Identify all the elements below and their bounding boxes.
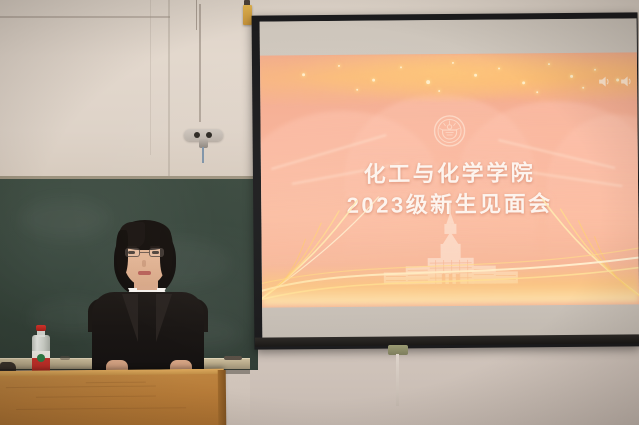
water-bottle[interactable] [30, 325, 52, 377]
mount-wire [202, 147, 204, 163]
podium-right-edge [218, 370, 227, 425]
wall-seam [0, 16, 170, 18]
wall-cable [199, 4, 201, 122]
light-ribbons [261, 194, 639, 307]
nose [142, 260, 146, 267]
volume-icon [598, 75, 611, 87]
speaker-hole-icon [194, 132, 200, 138]
slide-speaker-icons [598, 74, 633, 86]
screen-top-margin [260, 18, 637, 55]
university-emblem-icon [432, 114, 466, 148]
bottle-cap [36, 325, 46, 331]
lens-left [125, 248, 140, 257]
wall-cable-upper [196, 0, 197, 30]
volume-icon [620, 74, 633, 86]
sparkle-band [260, 52, 637, 111]
wall-corner-edge [168, 0, 170, 180]
screen-surface: 化工与化学学院 2023级新生见面会 [260, 18, 639, 339]
chalk-piece[interactable] [224, 356, 242, 360]
projection-screen[interactable]: 化工与化学学院 2023级新生见面会 [252, 12, 639, 349]
podium-top-surface [0, 369, 224, 376]
slide-title-line-1: 化工与化学学院 [261, 156, 638, 191]
wall-panel-edge [150, 0, 151, 155]
ribbon-glow [262, 262, 639, 305]
lapel-left [122, 294, 138, 342]
presenter-at-podium [78, 218, 216, 378]
mouth [138, 271, 151, 275]
classroom-scene: 化工与化学学院 2023级新生见面会 [0, 0, 639, 425]
glasses-bridge [140, 252, 149, 253]
chalk-piece[interactable] [60, 356, 70, 360]
lapel-right [156, 294, 172, 342]
speaker-hole-icon [206, 132, 212, 138]
eyeglasses-icon [124, 248, 166, 258]
lens-right [149, 248, 164, 257]
bottle-logo-icon [37, 354, 45, 362]
slide-content: 化工与化学学院 2023级新生见面会 [260, 52, 639, 307]
wooden-podium [0, 369, 224, 425]
hanging-rod[interactable] [396, 354, 399, 406]
